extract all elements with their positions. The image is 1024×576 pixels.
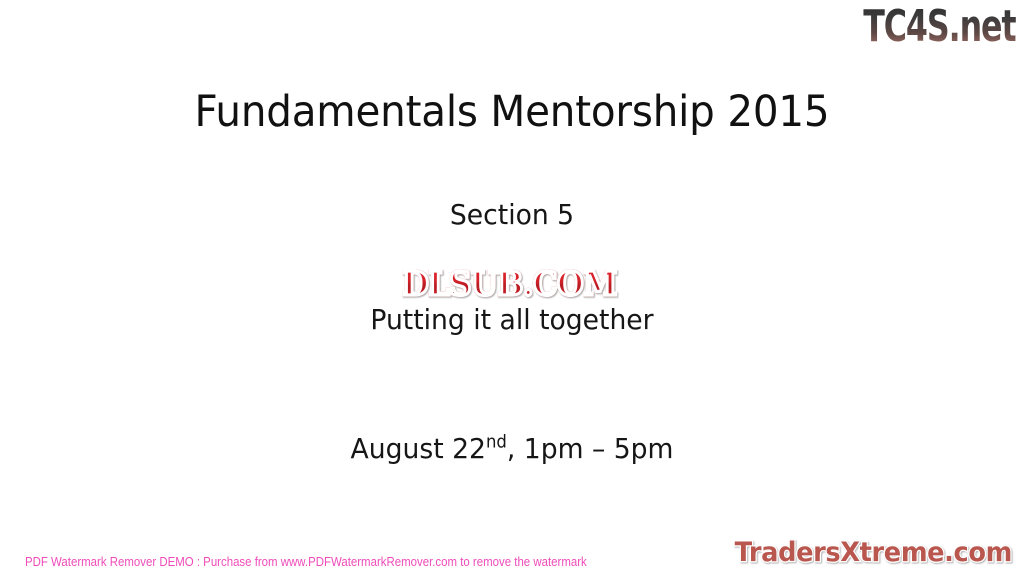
presentation-slide: TC4S.net Fundamentals Mentorship 2015 Se… (0, 0, 1024, 576)
dlsub-stamp-text: DLSUB.COM (402, 267, 617, 300)
section-subtitle: Section 5 (26, 197, 999, 233)
pdf-watermark-notice: PDF Watermark Remover DEMO : Purchase fr… (25, 553, 587, 571)
page-title: Fundamentals Mentorship 2015 (31, 86, 994, 138)
date-prefix: August 22 (351, 432, 486, 465)
slide-date-time: August 22nd, 1pm – 5pm (26, 431, 999, 467)
slide-tagline: Putting it all together (26, 302, 999, 338)
tc4s-logo: TC4S.net (864, 2, 1016, 52)
date-time-range: , 1pm – 5pm (507, 432, 674, 465)
dlsub-stamp-watermark: DLSUB.COM (368, 262, 650, 304)
tradersxtreme-logo: TradersXtreme.com (735, 536, 1012, 570)
date-ordinal-suffix: nd (486, 433, 507, 453)
